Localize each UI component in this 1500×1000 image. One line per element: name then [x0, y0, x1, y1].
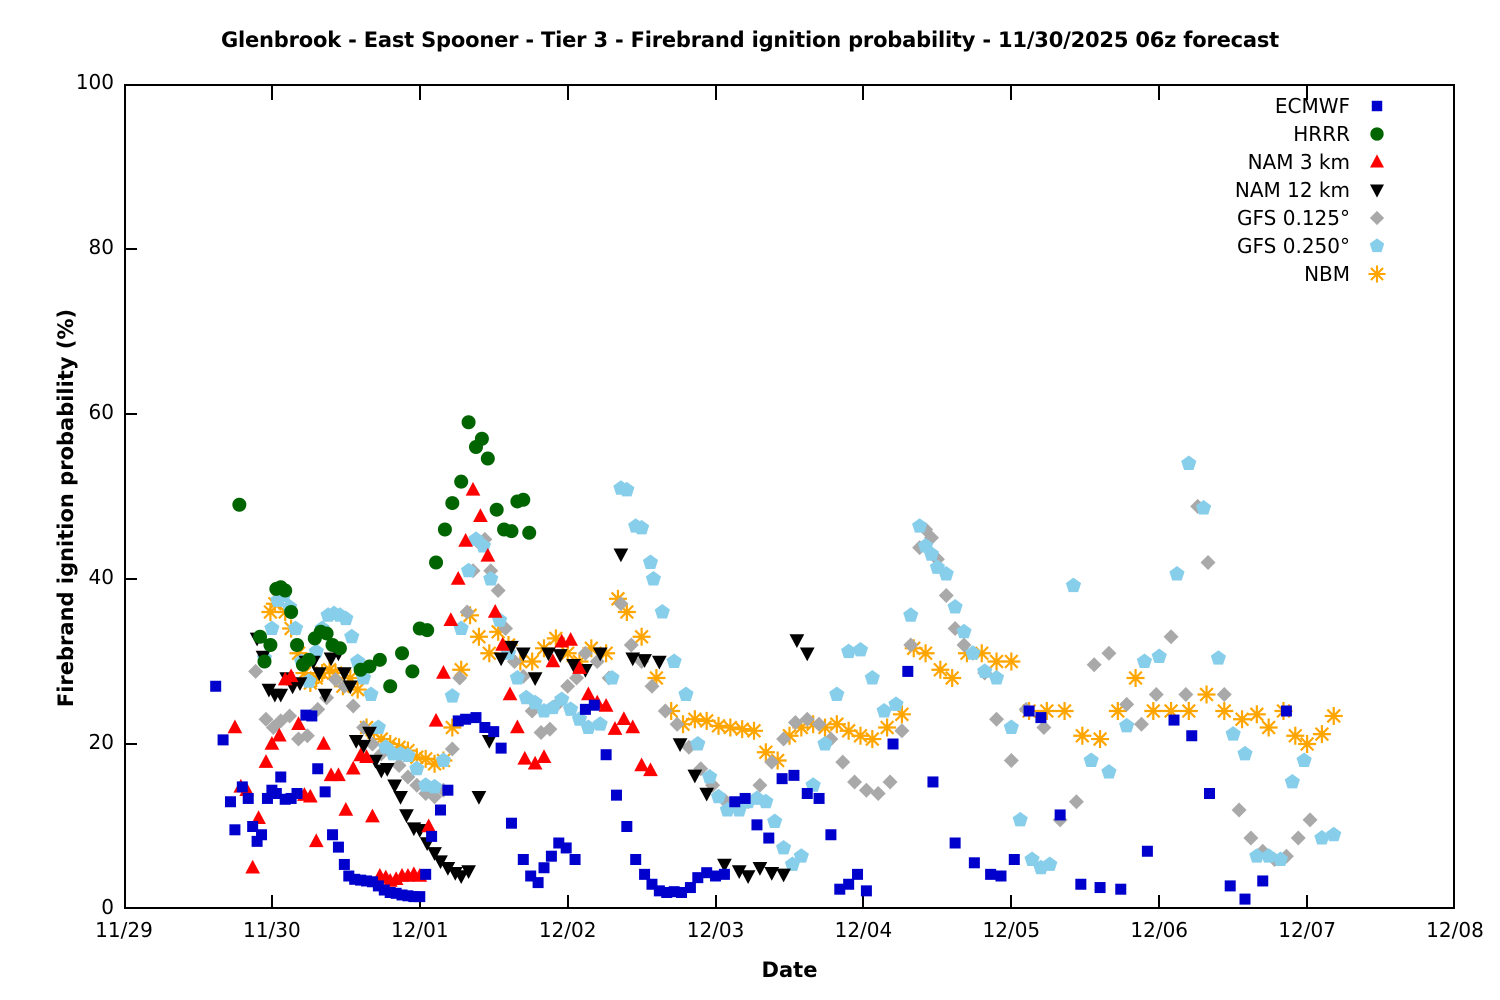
legend-label: GFS 0.250°	[1237, 234, 1350, 258]
legend-triangle-down-icon	[1354, 179, 1400, 201]
legend-label: NBM	[1304, 262, 1350, 286]
legend-item-nbm[interactable]: NBM	[1175, 260, 1400, 288]
legend-square-icon	[1354, 95, 1400, 117]
legend-item-gfs-0-125[interactable]: GFS 0.125°	[1175, 204, 1400, 232]
legend-label: NAM 12 km	[1235, 178, 1350, 202]
chart-canvas: Glenbrook - East Spooner - Tier 3 - Fire…	[0, 0, 1500, 1000]
legend-item-nam-12-km[interactable]: NAM 12 km	[1175, 176, 1400, 204]
legend-asterisk-icon	[1354, 263, 1400, 285]
legend-label: NAM 3 km	[1248, 150, 1350, 174]
legend-pentagon-icon	[1354, 235, 1400, 257]
legend-label: ECMWF	[1275, 94, 1350, 118]
legend-circle-icon	[1354, 123, 1400, 145]
legend-label: GFS 0.125°	[1237, 206, 1350, 230]
legend-diamond-icon	[1354, 207, 1400, 229]
chart-legend: ECMWFHRRRNAM 3 kmNAM 12 kmGFS 0.125°GFS …	[1175, 92, 1400, 288]
legend-triangle-up-icon	[1354, 151, 1400, 173]
legend-item-gfs-0-250[interactable]: GFS 0.250°	[1175, 232, 1400, 260]
legend-item-hrrr[interactable]: HRRR	[1175, 120, 1400, 148]
legend-label: HRRR	[1293, 122, 1350, 146]
legend-item-ecmwf[interactable]: ECMWF	[1175, 92, 1400, 120]
legend-item-nam-3-km[interactable]: NAM 3 km	[1175, 148, 1400, 176]
